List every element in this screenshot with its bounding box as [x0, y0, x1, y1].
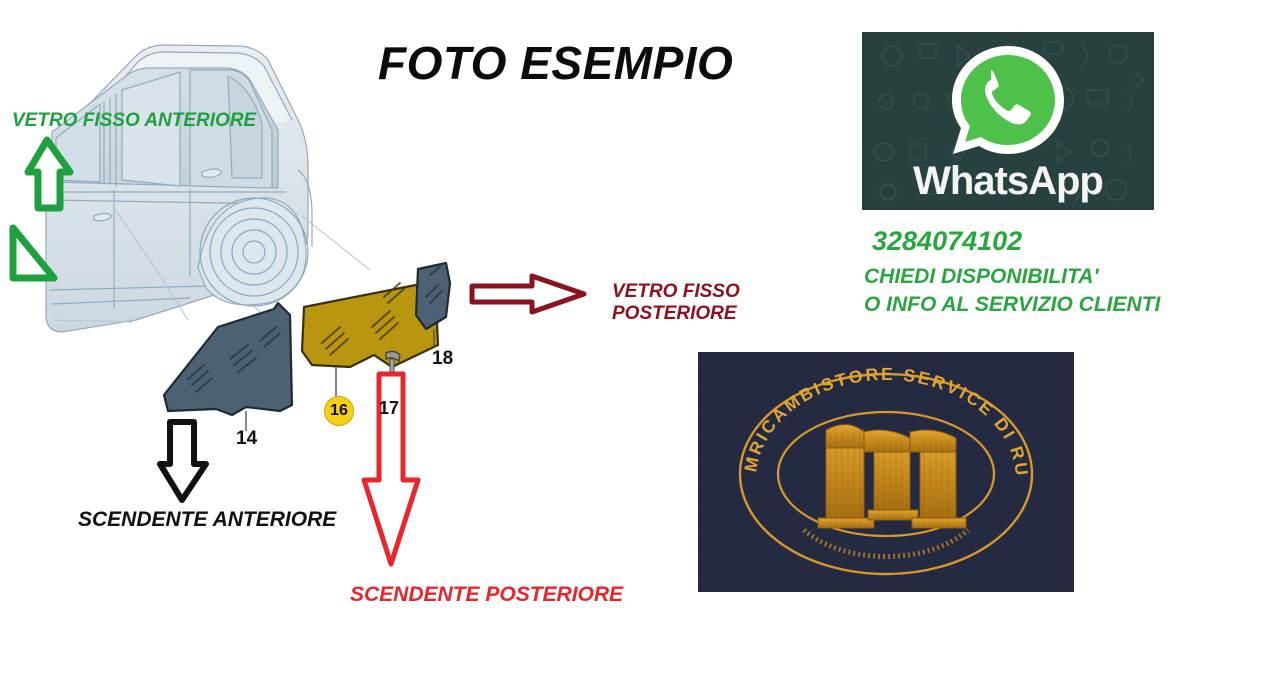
part-18-shape: [416, 263, 450, 329]
contact-phone-number[interactable]: 3284074102: [872, 226, 1022, 257]
whatsapp-phone-icon: [941, 40, 1075, 166]
screenshot-root: 14 16 17 18 FOTO ESEMPIO VETRO FISSO ANT…: [0, 0, 1264, 678]
label-vetro-fisso-anteriore: VETRO FISSO ANTERIORE: [12, 110, 256, 132]
whatsapp-wordmark: WhatsApp: [862, 159, 1154, 204]
arrow-up-icon-green: [22, 132, 82, 214]
shop-logo-arc-text: MRICAMBISTORE SERVICE DI RUSSO MARCO: [698, 352, 1032, 479]
arrow-right-icon-maroon: [468, 270, 590, 318]
callout-16-badge: 16: [324, 396, 354, 426]
part-14-shape: [164, 303, 292, 415]
contact-line-2: O INFO AL SERVIZIO CLIENTI: [864, 293, 1160, 317]
svg-text:MRICAMBISTORE SERVICE DI RUSSO: MRICAMBISTORE SERVICE DI RUSSO MARCO: [698, 352, 1032, 479]
label-vfp-line2: POSTERIORE: [612, 303, 740, 325]
label-scendente-posteriore: SCENDENTE POSTERIORE: [350, 583, 623, 608]
label-vfp-line1: VETRO FISSO: [612, 281, 740, 303]
contact-line-1: CHIEDI DISPONIBILITA': [864, 265, 1098, 289]
page-title: FOTO ESEMPIO: [378, 36, 733, 90]
callout-17: 17: [379, 398, 399, 419]
arrow-down-icon-black: [156, 418, 214, 504]
callout-14: 14: [236, 428, 257, 450]
label-vetro-fisso-posteriore: VETRO FISSO POSTERIORE: [612, 281, 740, 326]
label-scendente-anteriore: SCENDENTE ANTERIORE: [78, 508, 336, 533]
triangle-icon-green: [4, 222, 62, 288]
shop-logo-graphic: MRICAMBISTORE SERVICE DI RUSSO MARCO: [698, 352, 1074, 592]
whatsapp-logo: [941, 40, 1075, 171]
whatsapp-banner: WhatsApp: [862, 32, 1154, 210]
shop-logo-image: MRICAMBISTORE SERVICE DI RUSSO MARCO: [698, 352, 1074, 592]
callout-18: 18: [432, 348, 453, 370]
